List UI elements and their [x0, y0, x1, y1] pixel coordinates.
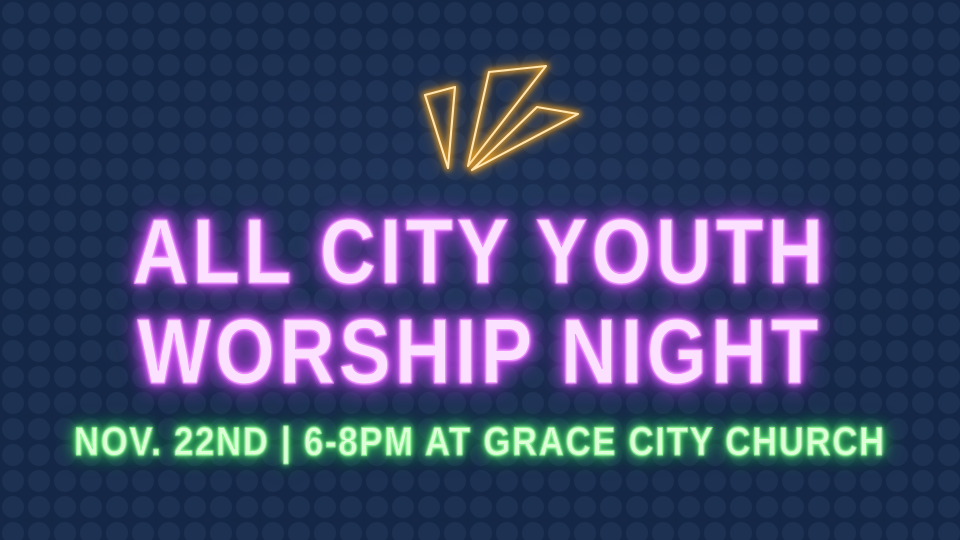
- triangle-right-wedge: [472, 107, 578, 170]
- triangle-center-wedge: [468, 66, 546, 166]
- headline-line-2-text: WORSHIP NIGHT: [138, 301, 823, 403]
- event-details-text: NOV. 22ND | 6-8PM AT GRACE CITY CHURCH: [74, 420, 886, 464]
- event-details-line: NOV. 22ND | 6-8PM AT GRACE CITY CHURCH N…: [67, 422, 893, 462]
- headline-line-2: WORSHIP NIGHT WORSHIP NIGHT WORSHIP NIGH…: [77, 306, 883, 398]
- triangle-left-sliver: [425, 87, 455, 168]
- headline-line-1-text: ALL CITY YOUTH: [133, 201, 828, 303]
- event-flyer-canvas: ALL CITY YOUTH ALL CITY YOUTH ALL CITY Y…: [0, 0, 960, 540]
- headline-line-1: ALL CITY YOUTH ALL CITY YOUTH ALL CITY Y…: [77, 206, 883, 298]
